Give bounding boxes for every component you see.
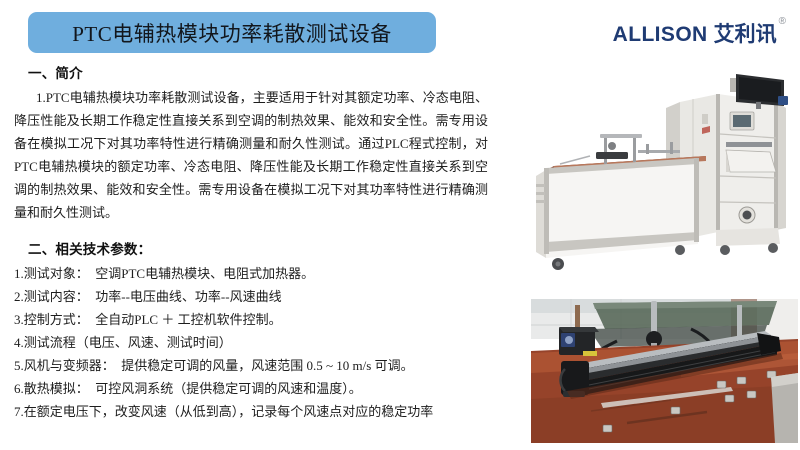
list-item: 4.测试流程（电压、风速、测试时间） <box>14 331 490 354</box>
list-item: 3.控制方式： 全自动PLC ＋ 工控机软件控制。 <box>14 308 490 331</box>
list-item: 1.测试对象： 空调PTC电辅热模块、电阻式加热器。 <box>14 262 490 285</box>
list-item: 2.测试内容： 功率--电压曲线、功率--风速曲线 <box>14 285 490 308</box>
list-item: 5.风机与变频器： 提供稳定可调的风量，风速范围 0.5 ~ 10 m/s 可调… <box>14 354 490 377</box>
registered-trademark-icon: ® <box>779 17 786 27</box>
heater-module-illustration <box>531 299 798 443</box>
parameters-heading: 二、相关技术参数： <box>28 238 490 258</box>
brand-logo-latin-text: ALLISON <box>613 24 708 45</box>
brand-logo: ALLISON 艾利讯 ® <box>613 24 786 45</box>
brand-logo-chinese-text: 艾利讯 <box>714 24 777 45</box>
content-column: 一、简介 1.PTC电辅热模块功率耗散测试设备，主要适用于针对其额定功率、冷态电… <box>14 62 490 423</box>
list-item: 6.散热模拟： 可控风洞系统（提供稳定可调的风速和温度）。 <box>14 377 490 400</box>
intro-heading: 一、简介 <box>28 62 490 82</box>
equipment-illustration <box>530 72 798 285</box>
test-bench-and-control-cabinet-photo <box>530 72 798 285</box>
list-item: 7.在额定电压下，改变风速（从低到高），记录每个风速点对应的稳定功率 <box>14 400 490 423</box>
page-title-banner: PTC电辅热模块功率耗散测试设备 <box>28 12 436 53</box>
parameters-list: 1.测试对象： 空调PTC电辅热模块、电阻式加热器。 2.测试内容： 功率--电… <box>14 262 490 423</box>
intro-paragraph: 1.PTC电辅热模块功率耗散测试设备，主要适用于针对其额定功率、冷态电阻、降压性… <box>14 86 490 224</box>
page-title: PTC电辅热模块功率耗散测试设备 <box>72 18 392 48</box>
parameters-section: 二、相关技术参数： 1.测试对象： 空调PTC电辅热模块、电阻式加热器。 2.测… <box>14 238 490 423</box>
ptc-heater-module-closeup-photo <box>531 299 798 443</box>
intro-section: 一、简介 1.PTC电辅热模块功率耗散测试设备，主要适用于针对其额定功率、冷态电… <box>14 62 490 224</box>
